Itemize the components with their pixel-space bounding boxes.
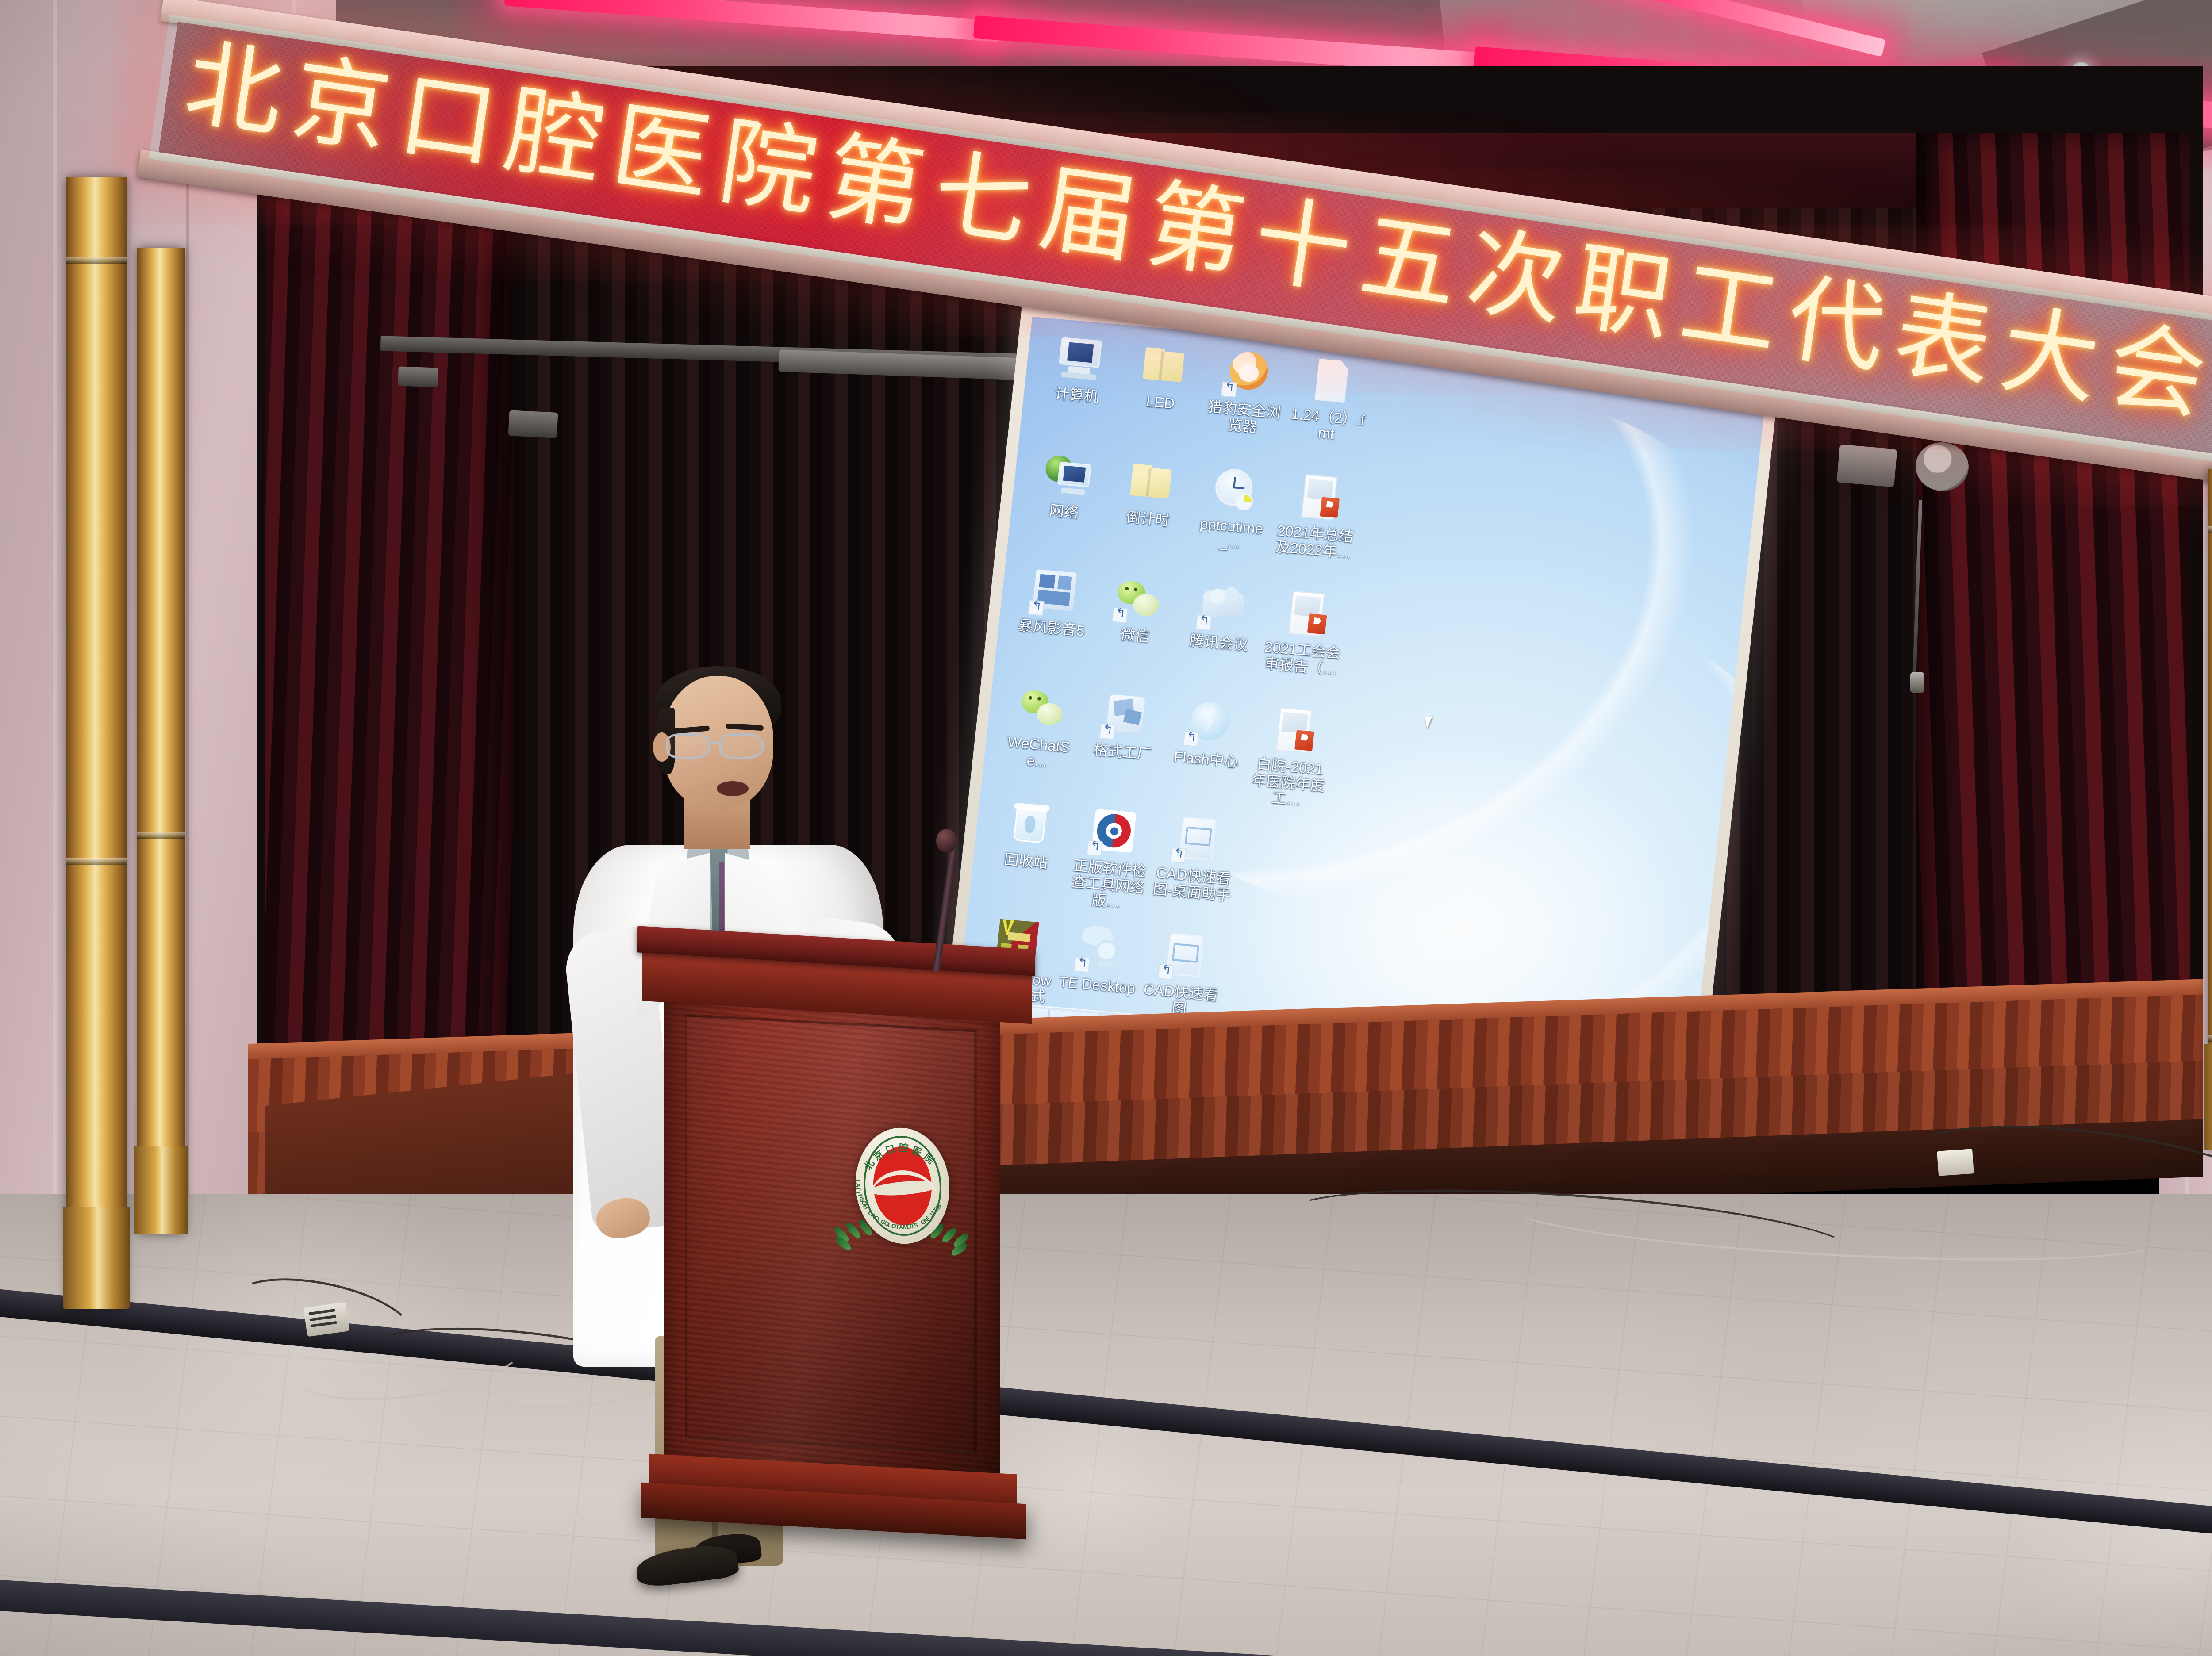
desktop-icon-label: TE Desktop (1055, 974, 1139, 997)
desktop-icon-label (1237, 872, 1319, 879)
eyeglasses (666, 733, 772, 761)
desktop-icon[interactable]: CAD快速看图-桌面助手 (1147, 812, 1241, 935)
wechat-icon (1015, 682, 1070, 736)
shortcut-arrow-icon (1074, 957, 1091, 973)
desktop-icon-label: 白院-2021年医院年度工… (1244, 755, 1332, 811)
glasses-bridge (710, 742, 721, 744)
powerpoint-file-icon (1267, 704, 1321, 757)
shortcut-arrow-icon (1170, 847, 1187, 864)
hospital-emblem: 北京口腔医院 BEIJING STOMATOLOGICAL HOSPITAL (836, 1124, 969, 1277)
mouth (717, 781, 749, 796)
desktop-icon-empty (1230, 819, 1325, 943)
desktop-icon-label: 格式工厂 (1080, 740, 1164, 764)
desktop-icon-label: CAD快速看图-桌面助手 (1150, 864, 1235, 904)
decorative-column-left-outer (66, 177, 127, 1309)
desktop-icon-label (1225, 988, 1306, 995)
te-desktop-icon (1074, 922, 1129, 976)
decorative-column-right-inner (2208, 469, 2212, 1150)
shortcut-arrow-icon (1157, 964, 1174, 980)
glasses-lens-right (719, 733, 764, 759)
recycle-bin-icon (1002, 798, 1057, 852)
decorative-column-left-inner (137, 248, 185, 1234)
power-strip (303, 1302, 349, 1337)
cad-viewer-icon (1170, 813, 1225, 866)
flash-center-icon (1183, 697, 1238, 750)
cad-viewer-icon (1157, 930, 1212, 983)
desktop-icon-label: WeChatSe... (995, 733, 1080, 773)
desktop-icon[interactable]: 回收站 (979, 797, 1074, 921)
format-factory-icon (1099, 689, 1154, 743)
gooseneck-microphone-head (936, 829, 957, 853)
speaker-podium: 北京口腔医院 BEIJING STOMATOLOGICAL HOSPITAL (659, 938, 1013, 1535)
desktop-icon[interactable]: 正版软件检查工具网络版… (1063, 805, 1157, 928)
desktop-icon[interactable]: WeChatSe... (992, 681, 1087, 805)
shortcut-arrow-icon (1183, 731, 1200, 747)
emblem-english-text: BEIJING STOMATOLOGICAL HOSPITAL (856, 1125, 949, 1246)
desktop-icon-label: Flash中心 (1164, 748, 1248, 771)
desktop-icon[interactable]: 格式工厂 (1075, 688, 1170, 812)
conference-hall-photo: 计算机LED猎豹安全浏览器1.24（2）.fmt网络倒计时pptcutime_.… (0, 0, 2212, 1656)
shortcut-arrow-icon (1099, 724, 1116, 740)
stage-floor-box (1937, 1149, 1974, 1176)
desktop-icon[interactable]: 白院-2021年医院年度工… (1243, 702, 1337, 826)
desktop-icon-label: 回收站 (984, 850, 1068, 873)
glasses-lens-left (666, 733, 710, 759)
desktop-icon[interactable]: Flash中心 (1159, 695, 1254, 819)
shortcut-arrow-icon (1087, 840, 1103, 856)
desktop-icon-label: 正版软件检查工具网络版… (1064, 857, 1152, 913)
sogou-swirl-icon (1087, 806, 1141, 859)
